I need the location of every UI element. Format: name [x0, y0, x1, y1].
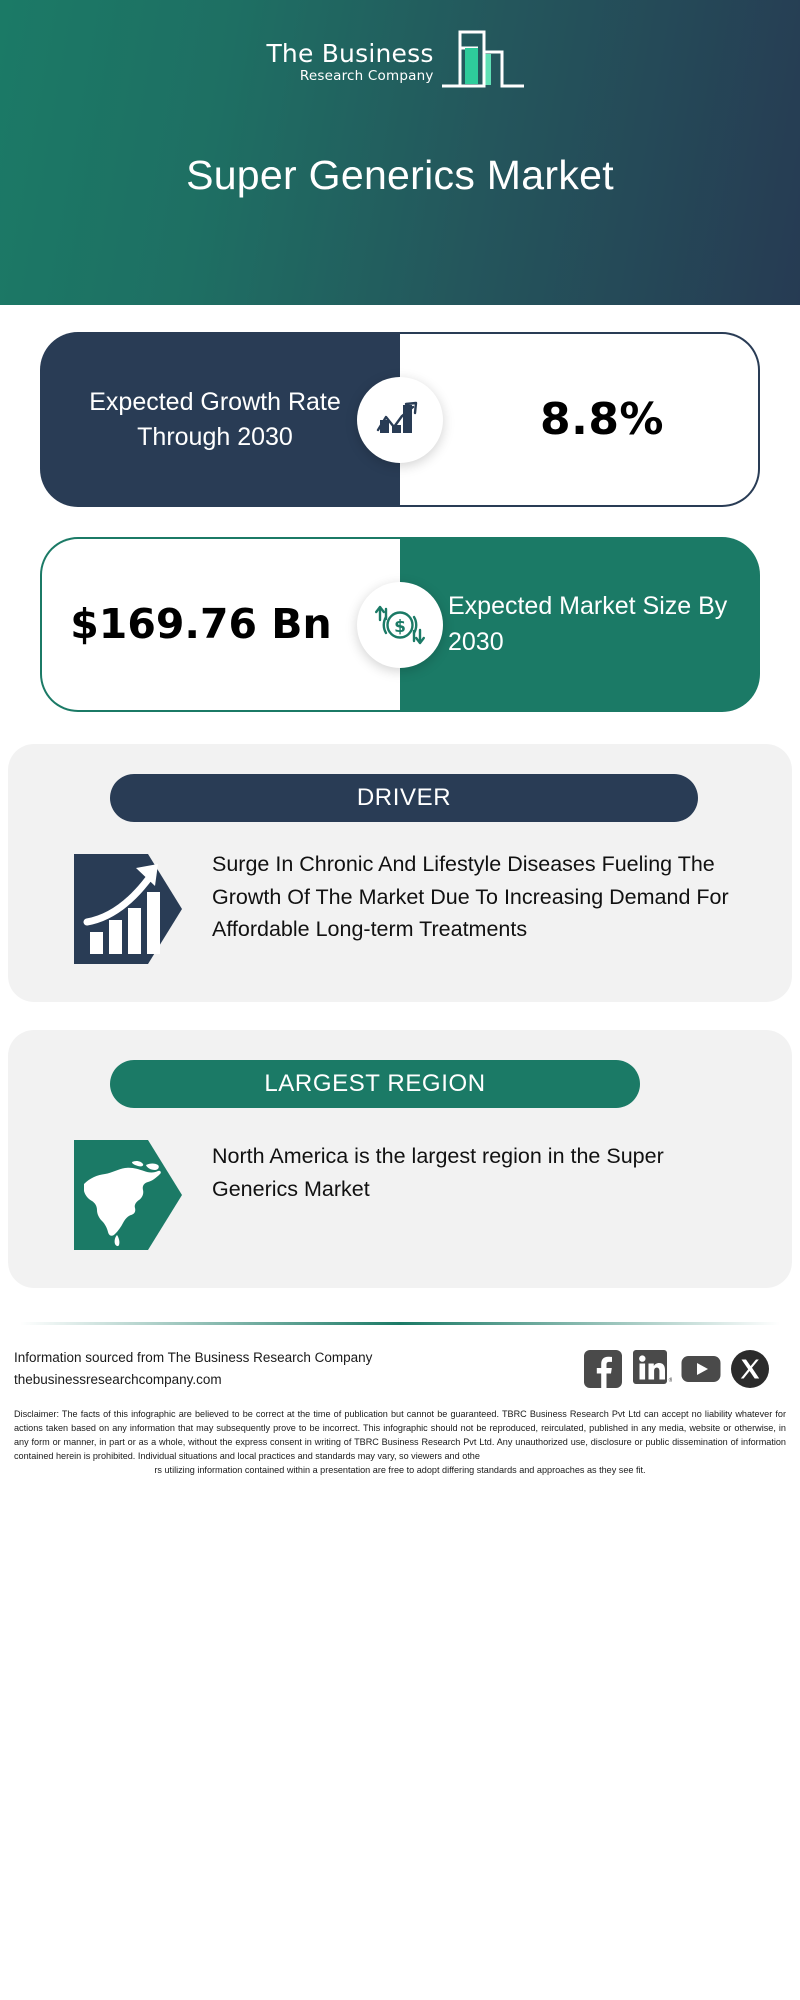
market-size-label: Expected Market Size By 2030 [400, 589, 760, 660]
social-links: ® [583, 1349, 778, 1389]
svg-text:$: $ [394, 617, 406, 637]
driver-row: Surge In Chronic And Lifestyle Diseases … [48, 846, 752, 968]
logo-line-2: Research Company [266, 67, 433, 86]
header-banner: The Business Research Company Super Gene… [0, 0, 800, 305]
expected-growth-rate-card: Expected Growth Rate Through 2030 8.8% [40, 332, 760, 507]
growth-rate-label: Expected Growth Rate Through 2030 [40, 385, 400, 454]
disclaimer-text: Disclaimer: The facts of this infographi… [0, 1391, 800, 1477]
logo-line-1: The Business [266, 41, 433, 67]
driver-pill-label: DRIVER [357, 784, 451, 812]
disclaimer-main: Disclaimer: The facts of this infographi… [14, 1409, 786, 1461]
footer-source-line-1: Information sourced from The Business Re… [14, 1347, 372, 1369]
region-row: North America is the largest region in t… [48, 1132, 752, 1254]
largest-region-pill: LARGEST REGION [110, 1060, 640, 1108]
youtube-icon[interactable] [681, 1349, 721, 1389]
market-size-label-half: Expected Market Size By 2030 [400, 537, 760, 712]
largest-region-panel: LARGEST REGION North America is the larg… [8, 1030, 792, 1288]
footer-row: Information sourced from The Business Re… [0, 1325, 800, 1391]
bar-chart-logo-icon [438, 22, 534, 90]
driver-panel: DRIVER Surge In Chronic And Lifestyle Di… [8, 744, 792, 1002]
dollar-circulation-icon: $ [357, 582, 443, 668]
largest-region-pill-label: LARGEST REGION [264, 1070, 485, 1098]
linkedin-icon[interactable]: ® [632, 1349, 672, 1389]
market-size-value: $169.76 Bn [70, 601, 371, 648]
driver-pill: DRIVER [110, 774, 698, 822]
footer-website-url[interactable]: thebusinessresearchcompany.com [14, 1369, 372, 1391]
growth-rate-value: 8.8% [494, 394, 664, 445]
expected-market-size-card: $169.76 Bn Expected Market Size By 2030 … [40, 537, 760, 712]
company-logo: The Business Research Company [0, 22, 800, 90]
driver-text: Surge In Chronic And Lifestyle Diseases … [190, 846, 752, 946]
facebook-icon[interactable] [583, 1349, 623, 1389]
logo-text: The Business Research Company [266, 41, 433, 90]
x-twitter-icon[interactable] [730, 1349, 770, 1389]
footer-source: Information sourced from The Business Re… [14, 1347, 372, 1391]
bar-chart-growth-icon [70, 850, 190, 968]
growth-value-half: 8.8% [400, 332, 760, 507]
growth-chart-arrow-icon [357, 377, 443, 463]
disclaimer-last-line: rs utilizing information contained withi… [14, 1463, 786, 1477]
north-america-map-icon [70, 1136, 190, 1254]
infographic-page: The Business Research Company Super Gene… [0, 0, 800, 2000]
market-size-value-half: $169.76 Bn [40, 537, 400, 712]
region-text: North America is the largest region in t… [190, 1132, 752, 1205]
growth-label-half: Expected Growth Rate Through 2030 [40, 332, 400, 507]
svg-text:®: ® [668, 1377, 672, 1384]
page-title: Super Generics Market [0, 152, 800, 199]
